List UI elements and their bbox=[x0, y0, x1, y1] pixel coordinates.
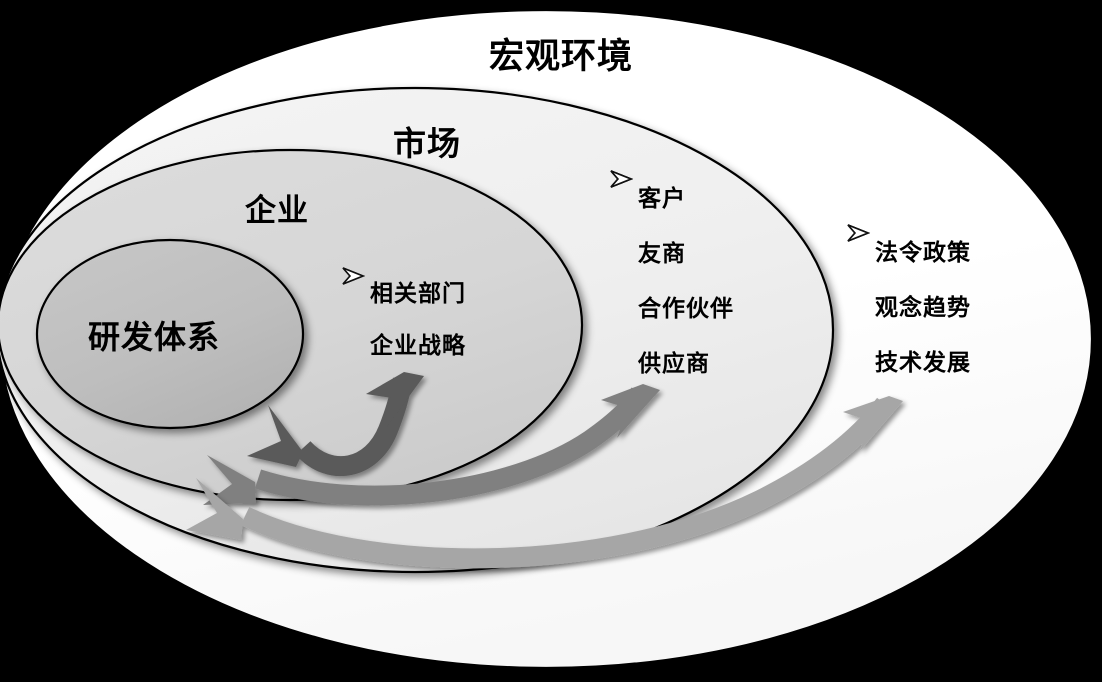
list-item: 企业战略 bbox=[340, 317, 466, 369]
label-market: 市场 bbox=[393, 117, 461, 165]
list-item-label: 相关部门 bbox=[370, 274, 466, 308]
label-macro-environment: 宏观环境 bbox=[489, 28, 633, 79]
list-item: 合作伙伴 bbox=[608, 278, 734, 333]
list-item-label: 企业战略 bbox=[370, 326, 466, 360]
list-item: 友商 bbox=[608, 223, 734, 278]
diagram-canvas: 宏观环境 市场 企业 研发体系 相关部门 企业战略 客户 bbox=[0, 0, 1102, 682]
list-item: 供应商 bbox=[608, 333, 734, 388]
list-item-label: 合作伙伴 bbox=[638, 289, 734, 323]
list-item-label: 供应商 bbox=[638, 344, 710, 378]
list-item-label: 客户 bbox=[638, 179, 686, 213]
list-item: 观念趋势 bbox=[845, 277, 971, 332]
list-macro-items: 法令政策 观念趋势 技术发展 bbox=[845, 222, 971, 387]
list-item-label: 观念趋势 bbox=[875, 288, 971, 322]
list-market-items: 客户 友商 合作伙伴 供应商 bbox=[608, 168, 734, 388]
label-enterprise: 企业 bbox=[245, 185, 309, 230]
list-item-label: 法令政策 bbox=[875, 233, 971, 267]
list-item: 技术发展 bbox=[845, 332, 971, 387]
label-rd-system: 研发体系 bbox=[88, 312, 220, 358]
list-item-label: 技术发展 bbox=[875, 343, 971, 377]
list-item-label: 友商 bbox=[638, 234, 686, 268]
list-enterprise-items: 相关部门 企业战略 bbox=[340, 265, 466, 369]
